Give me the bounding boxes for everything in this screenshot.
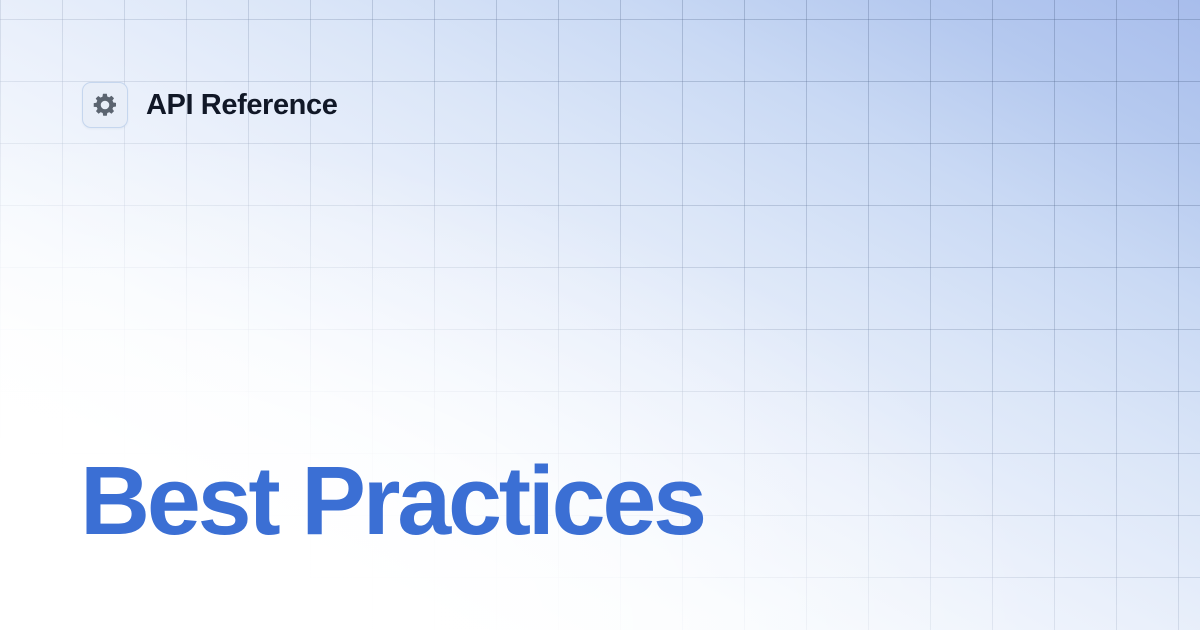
card-content: API Reference Best Practices — [0, 0, 1200, 630]
page-title: Best Practices — [80, 452, 704, 549]
eyebrow-row: API Reference — [82, 82, 337, 128]
eyebrow-label: API Reference — [146, 91, 337, 120]
og-card: API Reference Best Practices — [0, 0, 1200, 630]
gear-icon — [92, 92, 118, 118]
category-icon-badge — [82, 82, 128, 128]
